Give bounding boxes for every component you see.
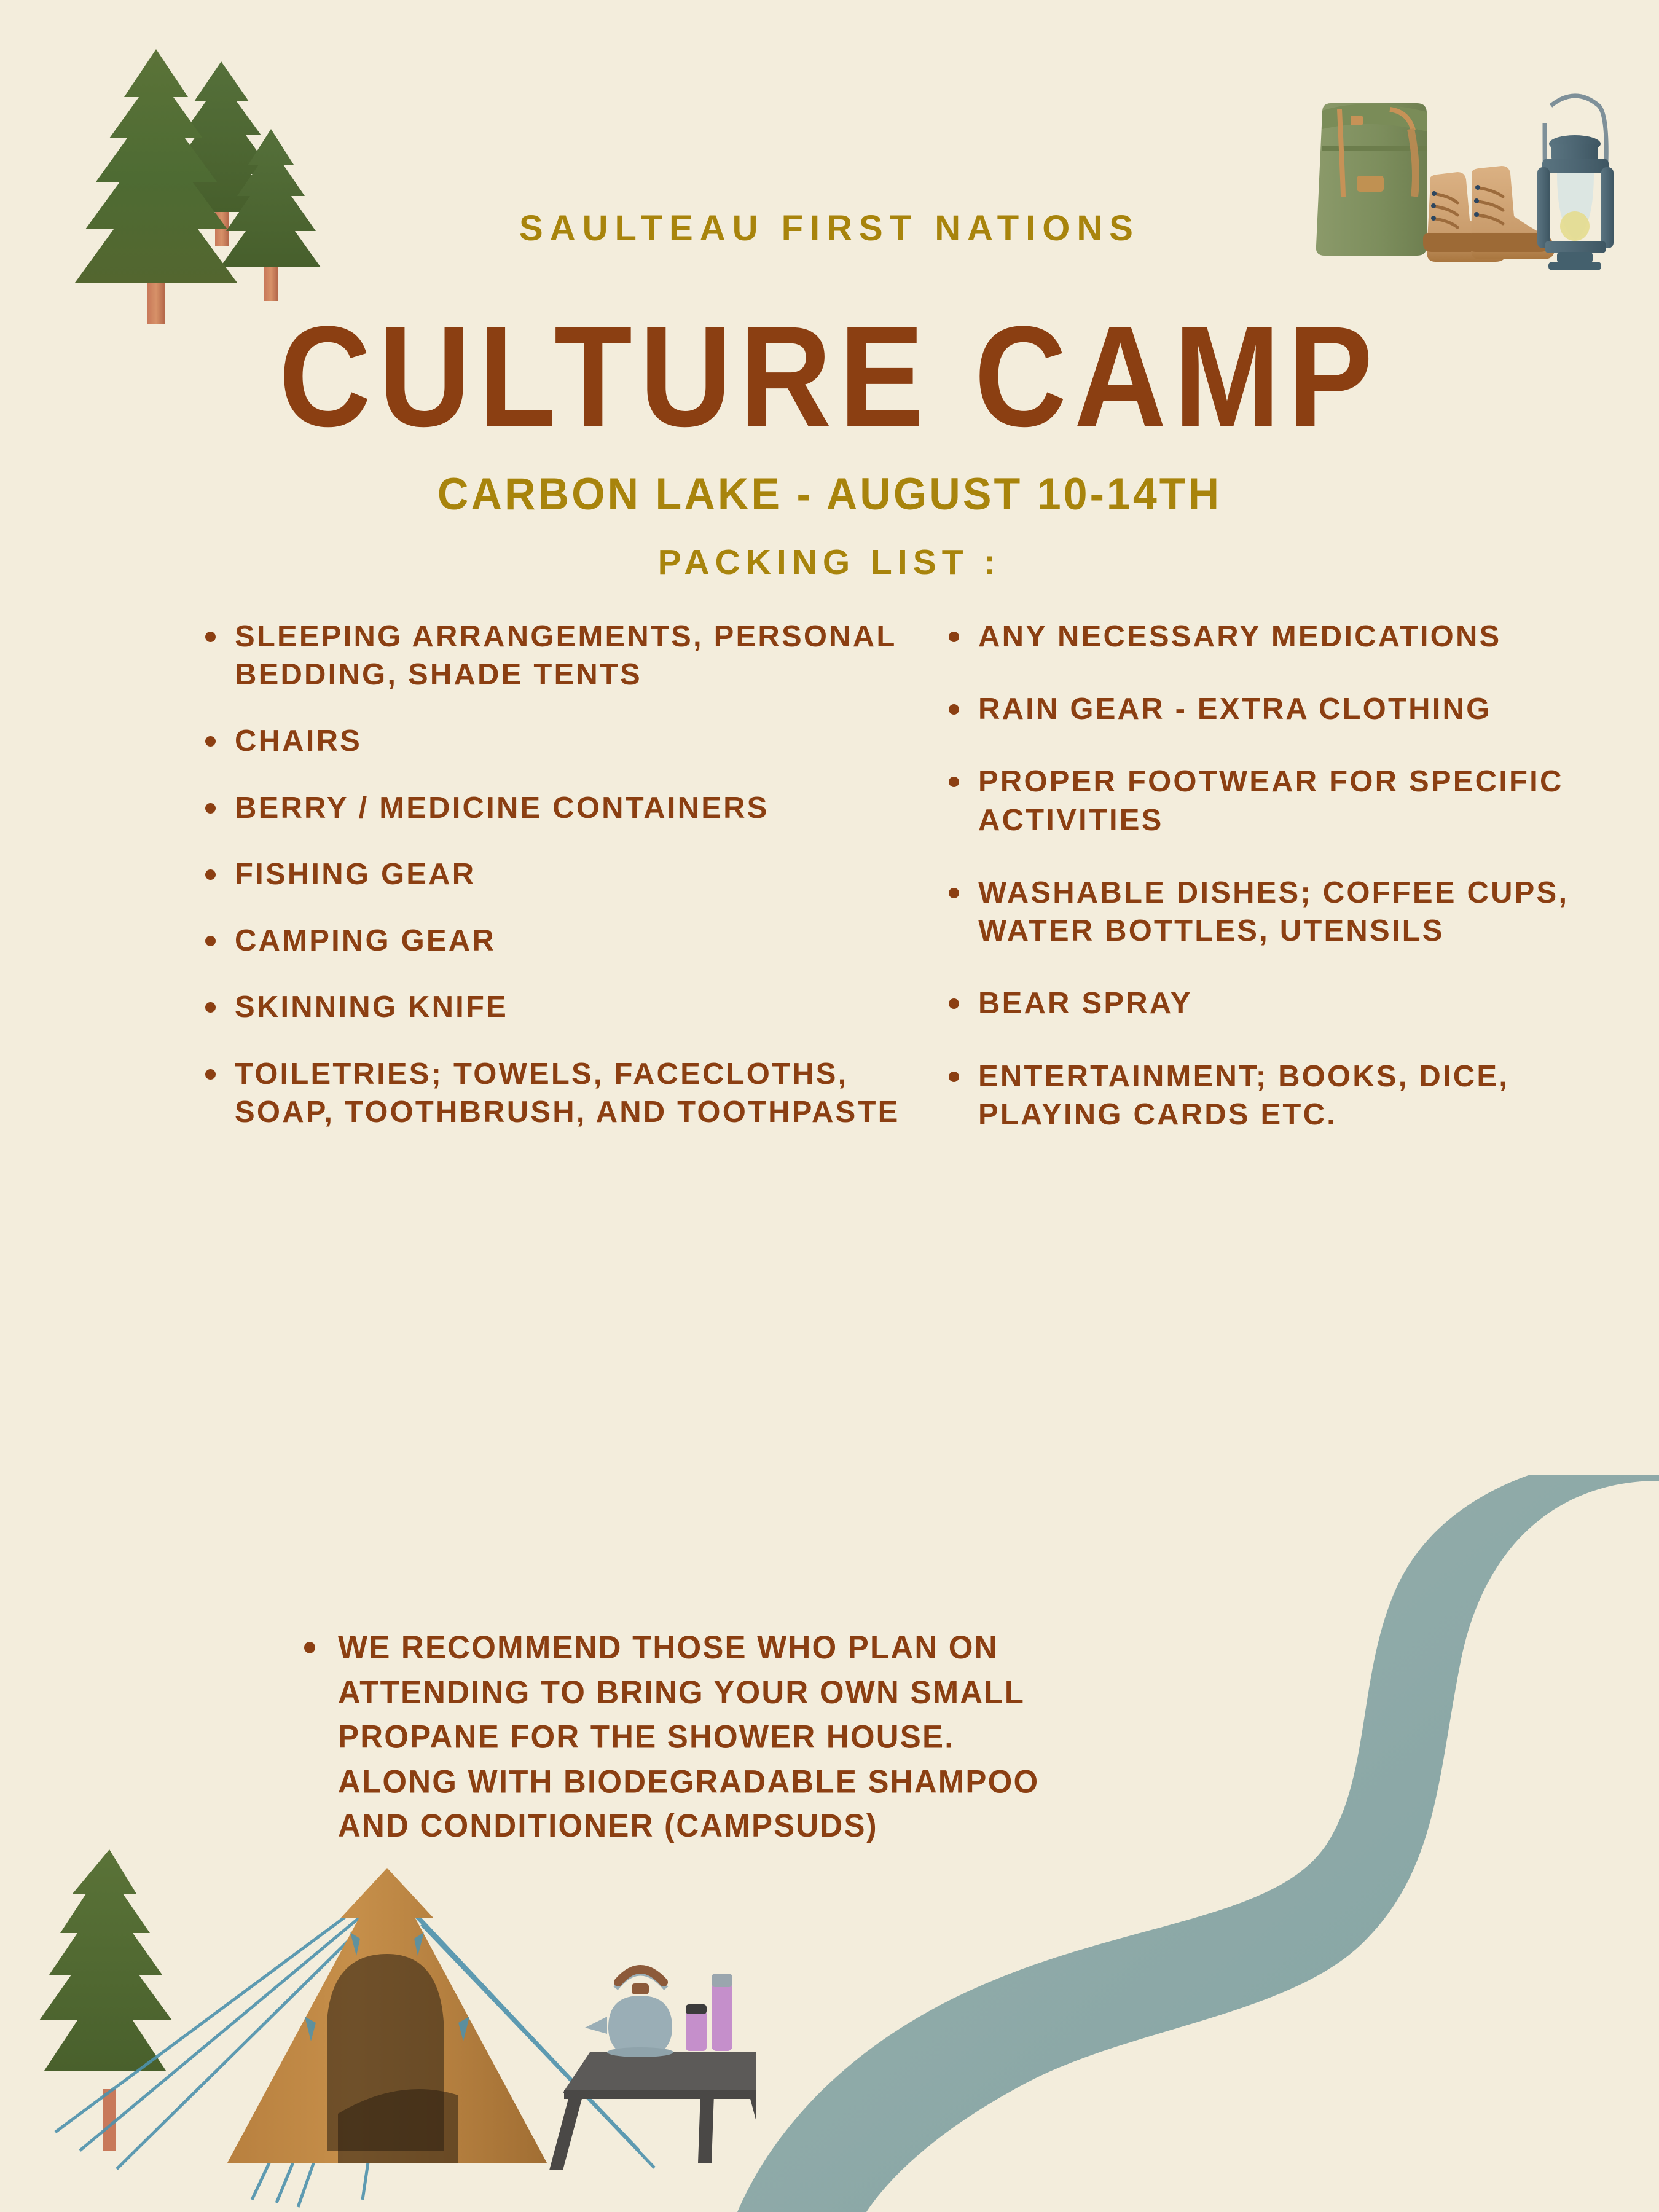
note-line: WE RECOMMEND THOSE WHO PLAN ON xyxy=(338,1625,1444,1670)
camping-gear-icon xyxy=(1296,61,1641,320)
list-item: CHAIRS xyxy=(203,722,928,760)
note-line: ALONG WITH BIODEGRADABLE SHAMPOO xyxy=(338,1759,1444,1804)
list-item: TOILETRIES; TOWELS, FACECLOTHS, SOAP, TO… xyxy=(203,1055,928,1131)
list-item: SLEEPING ARRANGEMENTS, PERSONAL BEDDING,… xyxy=(203,618,928,694)
list-item: RAIN GEAR - EXTRA CLOTHING xyxy=(946,690,1604,728)
organization-name: SAULTEAU FIRST NATIONS xyxy=(0,208,1659,249)
shower-house-recommendation: WE RECOMMEND THOSE WHO PLAN ON ATTENDING… xyxy=(304,1625,1444,1848)
list-item: SKINNING KNIFE xyxy=(203,988,928,1026)
list-item: ANY NECESSARY MEDICATIONS xyxy=(946,618,1604,656)
packing-list-heading: PACKING LIST : xyxy=(0,542,1659,582)
list-item: BEAR SPRAY xyxy=(946,984,1604,1022)
event-location-dates: CARBON LAKE - AUGUST 10-14TH xyxy=(0,468,1659,520)
packing-list-left-column: SLEEPING ARRANGEMENTS, PERSONAL BEDDING,… xyxy=(203,618,928,1576)
list-item: CAMPING GEAR xyxy=(203,922,928,960)
list-item: ENTERTAINMENT; BOOKS, DICE, PLAYING CARD… xyxy=(946,1057,1604,1134)
pine-trees-icon xyxy=(37,25,332,332)
packing-list-poster: SAULTEAU FIRST NATIONS CULTURE CAMP CARB… xyxy=(0,0,1659,2212)
note-line: PROPANE FOR THE SHOWER HOUSE. xyxy=(338,1714,1444,1759)
tent-campsite-icon xyxy=(18,1843,756,2212)
packing-list-right-column: ANY NECESSARY MEDICATIONS RAIN GEAR - EX… xyxy=(946,618,1604,1576)
list-item: FISHING GEAR xyxy=(203,855,928,893)
list-item: WASHABLE DISHES; COFFEE CUPS, WATER BOTT… xyxy=(946,874,1604,950)
list-item: BERRY / MEDICINE CONTAINERS xyxy=(203,789,928,827)
list-item: PROPER FOOTWEAR FOR SPECIFIC ACTIVITIES xyxy=(946,763,1604,839)
packing-list-right: ANY NECESSARY MEDICATIONS RAIN GEAR - EX… xyxy=(946,618,1604,1134)
page-title: CULTURE CAMP xyxy=(0,305,1659,449)
note-line: ATTENDING TO BRING YOUR OWN SMALL xyxy=(338,1670,1444,1715)
note-line: AND CONDITIONER (CAMPSUDS) xyxy=(338,1804,1444,1849)
packing-list-left: SLEEPING ARRANGEMENTS, PERSONAL BEDDING,… xyxy=(203,618,928,1131)
packing-list-columns: SLEEPING ARRANGEMENTS, PERSONAL BEDDING,… xyxy=(0,618,1659,1576)
